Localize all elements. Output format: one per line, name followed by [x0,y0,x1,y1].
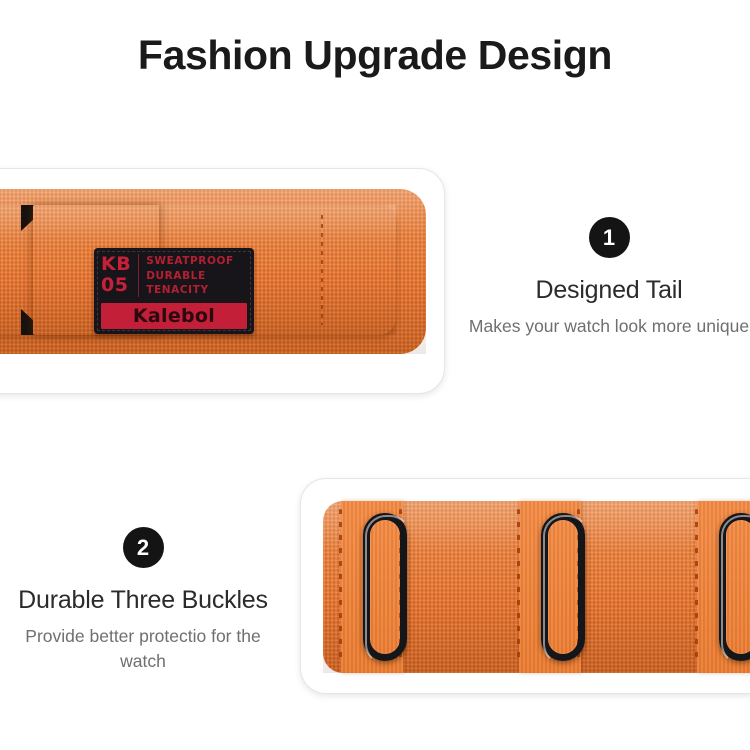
feature-badge-1: 1 [589,217,630,258]
photo-card-three-buckles [300,478,750,694]
page-title: Fashion Upgrade Design [0,32,750,79]
strap-edge-stitching [321,215,323,325]
feature-heading-2: Durable Three Buckles [2,586,284,615]
stitch-line [339,509,342,665]
label-claims: SWEATPROOF DURABLE TENACITY [146,254,234,298]
buckle-loop-3 [719,513,750,661]
photo-card-designed-tail: KB 05 SWEATPROOF DURABLE TENACITY Kalebo… [0,168,445,394]
label-code-line-1: KB [101,254,131,275]
brand-name: Kalebol [133,305,215,327]
infographic-page: Fashion Upgrade Design KB 05 [0,0,750,750]
label-model-code: KB 05 [101,254,131,296]
feature-badge-2: 2 [123,527,164,568]
feature-description-2: Provide better protectio for the watch [2,624,284,674]
feature-block-designed-tail: 1 Designed Tail Makes your watch look mo… [468,217,750,339]
buckle-loop-2 [541,513,585,661]
feature-description-1: Makes your watch look more unique [468,314,750,339]
label-top-row: KB 05 SWEATPROOF DURABLE TENACITY [101,254,247,300]
label-code-line-2: 05 [101,275,131,296]
feature-heading-1: Designed Tail [468,276,750,305]
label-claim-1: SWEATPROOF [146,254,234,269]
label-divider [138,254,139,297]
label-brand-box: Kalebol [101,303,247,329]
brand-label-patch: KB 05 SWEATPROOF DURABLE TENACITY Kalebo… [94,248,254,334]
label-claim-2: DURABLE [146,269,234,284]
stitch-line [695,509,698,665]
buckle-loop-1 [363,513,407,661]
feature-block-three-buckles: 2 Durable Three Buckles Provide better p… [2,527,284,674]
label-claim-3: TENACITY [146,283,234,298]
stitch-line [517,509,520,665]
